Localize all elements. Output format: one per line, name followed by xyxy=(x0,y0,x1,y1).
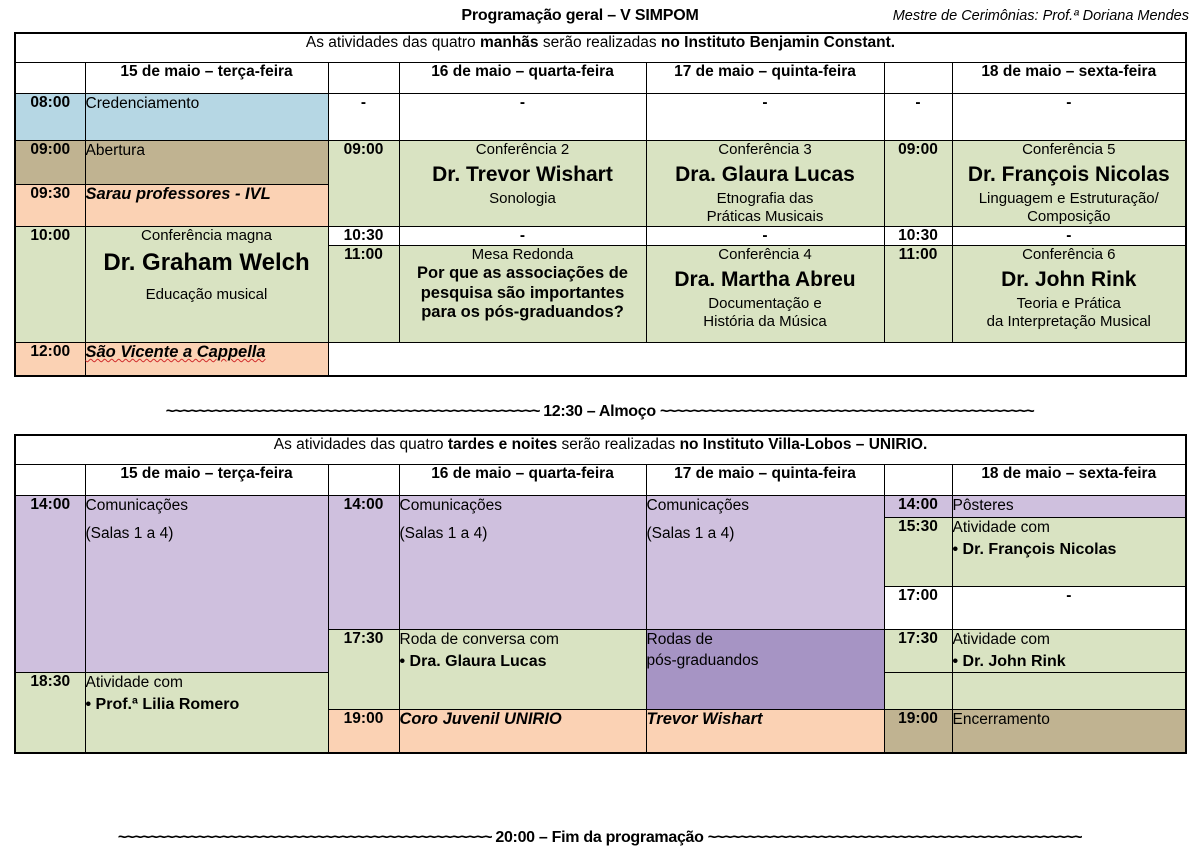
document-header: Programação geral – V SIMPOM Mestre de C… xyxy=(0,4,1199,30)
conference-label: Conferência magna xyxy=(86,227,328,245)
time-wed-1030: 10:30 xyxy=(328,226,399,245)
schedule-page: Programação geral – V SIMPOM Mestre de C… xyxy=(0,0,1199,861)
activity-label: Pôsteres xyxy=(953,496,1186,517)
activity-thu-none: - xyxy=(646,94,884,141)
time-wed-1730: 17:30 xyxy=(328,629,399,709)
banner-part-3: serão realizadas xyxy=(557,436,679,453)
time-fri-1900: 19:00 xyxy=(884,709,952,753)
activity-wed-1730: Roda de conversa com • Dra. Glaura Lucas xyxy=(399,629,646,709)
morning-banner-row: As atividades das quatro manhãs serão re… xyxy=(15,33,1186,63)
speaker-name: Dra. Martha Abreu xyxy=(647,267,884,293)
lunch-label: 12:30 – Almoço xyxy=(543,403,656,420)
activity-thu-0900: Conferência 3 Dra. Glaura Lucas Etnograf… xyxy=(646,141,884,227)
time-fri-none: - xyxy=(884,94,952,141)
time-wed-none: - xyxy=(328,94,399,141)
speaker-name: Dr. John Rink xyxy=(953,267,1186,293)
topic-line-2: História da Música xyxy=(647,313,884,331)
activity-fri-1530: Atividade com • Dr. François Nicolas xyxy=(952,517,1186,586)
activity-fri-0900: Conferência 5 Dr. François Nicolas Lingu… xyxy=(952,141,1186,227)
topic-line-1: Etnografia das xyxy=(647,190,884,208)
activity-fri-1900-top xyxy=(952,673,1186,709)
activity-tue-1830: Atividade com • Prof.ª Lilia Romero xyxy=(85,673,328,753)
speaker-name: Dr. Trevor Wishart xyxy=(400,162,646,188)
activity-line-1: Comunicações xyxy=(86,496,328,517)
banner-part-4: no Instituto Villa-Lobos – UNIRIO. xyxy=(680,436,928,453)
activity-line-1: Roda de conversa com xyxy=(400,630,646,651)
time-tue-0900: 09:00 xyxy=(15,141,85,185)
day-header-friday: 18 de maio – sexta-feira xyxy=(952,63,1186,94)
activity-wed-0900: Conferência 2 Dr. Trevor Wishart Sonolog… xyxy=(399,141,646,227)
day-header-wednesday: 16 de maio – quarta-feira xyxy=(399,465,646,496)
topic-label: Sonologia xyxy=(400,190,646,208)
time-tue-0800: 08:00 xyxy=(15,94,85,141)
activity-line-2: (Salas 1 a 4) xyxy=(86,524,328,545)
wave-right: ~~~~~~~~~~~~~~~~~~~~~~~~~~~~~~~~~~~~~~~~… xyxy=(708,829,1081,846)
activity-tue-1000: Conferência magna Dr. Graham Welch Educa… xyxy=(85,226,328,342)
activity-fri-1030: - xyxy=(952,226,1186,245)
topic-line-2: Práticas Musicais xyxy=(647,208,884,226)
conference-label: Conferência 3 xyxy=(647,141,884,159)
end-label: 20:00 – Fim da programação xyxy=(495,829,703,846)
spacer-cell xyxy=(15,63,85,94)
activity-label: Abertura xyxy=(86,141,328,162)
speaker-name: Dr. Graham Welch xyxy=(86,248,328,277)
activity-fri-1900: Encerramento xyxy=(952,709,1186,753)
time-wed-1900: 19:00 xyxy=(328,709,399,753)
day-header-thursday: 17 de maio – quinta-feira xyxy=(646,465,884,496)
wave-right: ~~~~~~~~~~~~~~~~~~~~~~~~~~~~~~~~~~~~~~~~… xyxy=(660,403,1033,420)
topic-line-1: Linguagem e Estruturação/ xyxy=(953,190,1186,208)
conference-label: Conferência 4 xyxy=(647,246,884,264)
activity-line-2: (Salas 1 a 4) xyxy=(400,524,646,545)
spacer-cell xyxy=(328,465,399,496)
day-header-wednesday: 16 de maio – quarta-feira xyxy=(399,63,646,94)
time-fri-1030: 10:30 xyxy=(884,226,952,245)
activity-line-1: Comunicações xyxy=(400,496,646,517)
lunch-divider: ~~~~~~~~~~~~~~~~~~~~~~~~~~~~~~~~~~~~~~~~… xyxy=(14,403,1185,421)
activity-line-1: Rodas de xyxy=(647,630,884,651)
activity-label: Trevor Wishart xyxy=(647,710,884,729)
activity-line-2: • Dr. John Rink xyxy=(953,651,1186,673)
conference-label: Conferência 2 xyxy=(400,141,646,159)
afternoon-row-1400: 14:00 Comunicações (Salas 1 a 4) 14:00 C… xyxy=(15,496,1186,518)
time-wed-0900: 09:00 xyxy=(328,141,399,227)
activity-thu-1030: - xyxy=(646,226,884,245)
time-fri-1100: 11:00 xyxy=(884,245,952,342)
time-wed-1400: 14:00 xyxy=(328,496,399,630)
activity-thu-1400: Comunicações (Salas 1 a 4) xyxy=(646,496,884,630)
session-title-2: pesquisa são importantes xyxy=(400,284,646,304)
time-fri-1530: 15:30 xyxy=(884,517,952,586)
activity-tue-0900: Abertura xyxy=(85,141,328,185)
topic-label: Educação musical xyxy=(86,286,328,304)
spacer-cell xyxy=(328,63,399,94)
afternoon-schedule-table: As atividades das quatro tardes e noites… xyxy=(14,434,1187,754)
morning-schedule-table: As atividades das quatro manhãs serão re… xyxy=(14,32,1187,377)
time-tue-1200: 12:00 xyxy=(15,342,85,376)
end-divider: ~~~~~~~~~~~~~~~~~~~~~~~~~~~~~~~~~~~~~~~~… xyxy=(14,829,1185,847)
activity-line-1: Comunicações xyxy=(647,496,884,517)
wave-left: ~~~~~~~~~~~~~~~~~~~~~~~~~~~~~~~~~~~~~~~~… xyxy=(166,403,539,420)
banner-part-2: manhãs xyxy=(480,34,539,51)
morning-row-0800: 08:00 Credenciamento - - - - - xyxy=(15,94,1186,141)
day-header-friday: 18 de maio – sexta-feira xyxy=(952,465,1186,496)
banner-part-3: serão realizadas xyxy=(539,34,661,51)
activity-wed-1100: Mesa Redonda Por que as associações de p… xyxy=(399,245,646,342)
time-tue-1400: 14:00 xyxy=(15,496,85,673)
day-header-tuesday: 15 de maio – terça-feira xyxy=(85,465,328,496)
time-fri-1400: 14:00 xyxy=(884,496,952,518)
topic-line-1: Documentação e xyxy=(647,295,884,313)
spacer-cell xyxy=(884,465,952,496)
time-fri-0900: 09:00 xyxy=(884,141,952,227)
morning-day-header-row: 15 de maio – terça-feira 16 de maio – qu… xyxy=(15,63,1186,94)
activity-line-2: pós-graduandos xyxy=(647,651,884,672)
activity-line-1: Atividade com xyxy=(953,630,1186,651)
morning-banner: As atividades das quatro manhãs serão re… xyxy=(15,33,1186,63)
afternoon-banner: As atividades das quatro tardes e noites… xyxy=(15,435,1186,465)
spacer xyxy=(86,279,328,286)
time-fri-1730: 17:30 xyxy=(884,629,952,673)
session-title-3: para os pós-graduandos? xyxy=(400,303,646,323)
activity-wed-1400: Comunicações (Salas 1 a 4) xyxy=(399,496,646,630)
activity-line-2: • Dr. François Nicolas xyxy=(953,539,1186,561)
time-fri-1700: 17:00 xyxy=(884,586,952,629)
activity-wed-none: - xyxy=(399,94,646,141)
activity-label: São Vicente a Cappella xyxy=(86,343,328,362)
activity-tue-0930: Sarau professores - IVL xyxy=(85,185,328,227)
activity-line-1: Atividade com xyxy=(86,673,328,694)
session-title-1: Por que as associações de xyxy=(400,264,646,284)
activity-thu-1900: Trevor Wishart xyxy=(646,709,884,753)
banner-part-4: no Instituto Benjamin Constant. xyxy=(661,34,895,51)
activity-thu-1100: Conferência 4 Dra. Martha Abreu Document… xyxy=(646,245,884,342)
activity-fri-1730: Atividade com • Dr. John Rink xyxy=(952,629,1186,673)
activity-fri-none: - xyxy=(952,94,1186,141)
mc-note: Mestre de Cerimônias: Prof.ª Doriana Men… xyxy=(893,4,1189,28)
activity-fri-1100: Conferência 6 Dr. John Rink Teoria e Prá… xyxy=(952,245,1186,342)
activity-thu-1730: Rodas de pós-graduandos xyxy=(646,629,884,709)
activity-label: Encerramento xyxy=(953,710,1186,731)
morning-row-0900: 09:00 Abertura 09:00 Conferência 2 Dr. T… xyxy=(15,141,1186,185)
spacer xyxy=(400,517,646,524)
activity-label: Credenciamento xyxy=(86,94,328,115)
conference-label: Conferência 5 xyxy=(953,141,1186,159)
morning-row-1000: 10:00 Conferência magna Dr. Graham Welch… xyxy=(15,226,1186,245)
time-tue-1830: 18:30 xyxy=(15,673,85,753)
activity-line-2: (Salas 1 a 4) xyxy=(647,524,884,545)
afternoon-day-header-row: 15 de maio – terça-feira 16 de maio – qu… xyxy=(15,465,1186,496)
topic-line-2: Composição xyxy=(953,208,1186,226)
time-tue-1000: 10:00 xyxy=(15,226,85,342)
conference-label: Conferência 6 xyxy=(953,246,1186,264)
banner-part-1: As atividades das quatro xyxy=(306,34,480,51)
spacer-cell xyxy=(884,63,952,94)
activity-line-2: • Prof.ª Lilia Romero xyxy=(86,694,328,716)
morning-row-1200: 12:00 São Vicente a Cappella xyxy=(15,342,1186,376)
activity-tue-0800: Credenciamento xyxy=(85,94,328,141)
session-label: Mesa Redonda xyxy=(400,246,646,264)
activity-label: Sarau professores - IVL xyxy=(86,185,328,204)
activity-fri-1700: - xyxy=(952,586,1186,629)
time-fri-1900-top xyxy=(884,673,952,709)
banner-part-2: tardes e noites xyxy=(448,436,557,453)
activity-line-1: Atividade com xyxy=(953,518,1186,539)
activity-wed-1900: Coro Juvenil UNIRIO xyxy=(399,709,646,753)
spacer xyxy=(647,517,884,524)
day-header-tuesday: 15 de maio – terça-feira xyxy=(85,63,328,94)
activity-fri-1400: Pôsteres xyxy=(952,496,1186,518)
spacer xyxy=(86,517,328,524)
spacer-cell xyxy=(15,465,85,496)
activity-label: Coro Juvenil UNIRIO xyxy=(400,710,646,729)
banner-part-1: As atividades das quatro xyxy=(274,436,448,453)
activity-wed-1030: - xyxy=(399,226,646,245)
activity-line-2: • Dra. Glaura Lucas xyxy=(400,651,646,673)
afternoon-banner-row: As atividades das quatro tardes e noites… xyxy=(15,435,1186,465)
topic-line-1: Teoria e Prática xyxy=(953,295,1186,313)
speaker-name: Dra. Glaura Lucas xyxy=(647,162,884,188)
speaker-name: Dr. François Nicolas xyxy=(953,162,1186,188)
topic-line-2: da Interpretação Musical xyxy=(953,313,1186,331)
day-header-thursday: 17 de maio – quinta-feira xyxy=(646,63,884,94)
time-tue-0930: 09:30 xyxy=(15,185,85,227)
activity-tue-1400: Comunicações (Salas 1 a 4) xyxy=(85,496,328,673)
activity-tue-1200: São Vicente a Cappella xyxy=(85,342,328,376)
wave-left: ~~~~~~~~~~~~~~~~~~~~~~~~~~~~~~~~~~~~~~~~… xyxy=(118,829,491,846)
time-wed-1100: 11:00 xyxy=(328,245,399,342)
